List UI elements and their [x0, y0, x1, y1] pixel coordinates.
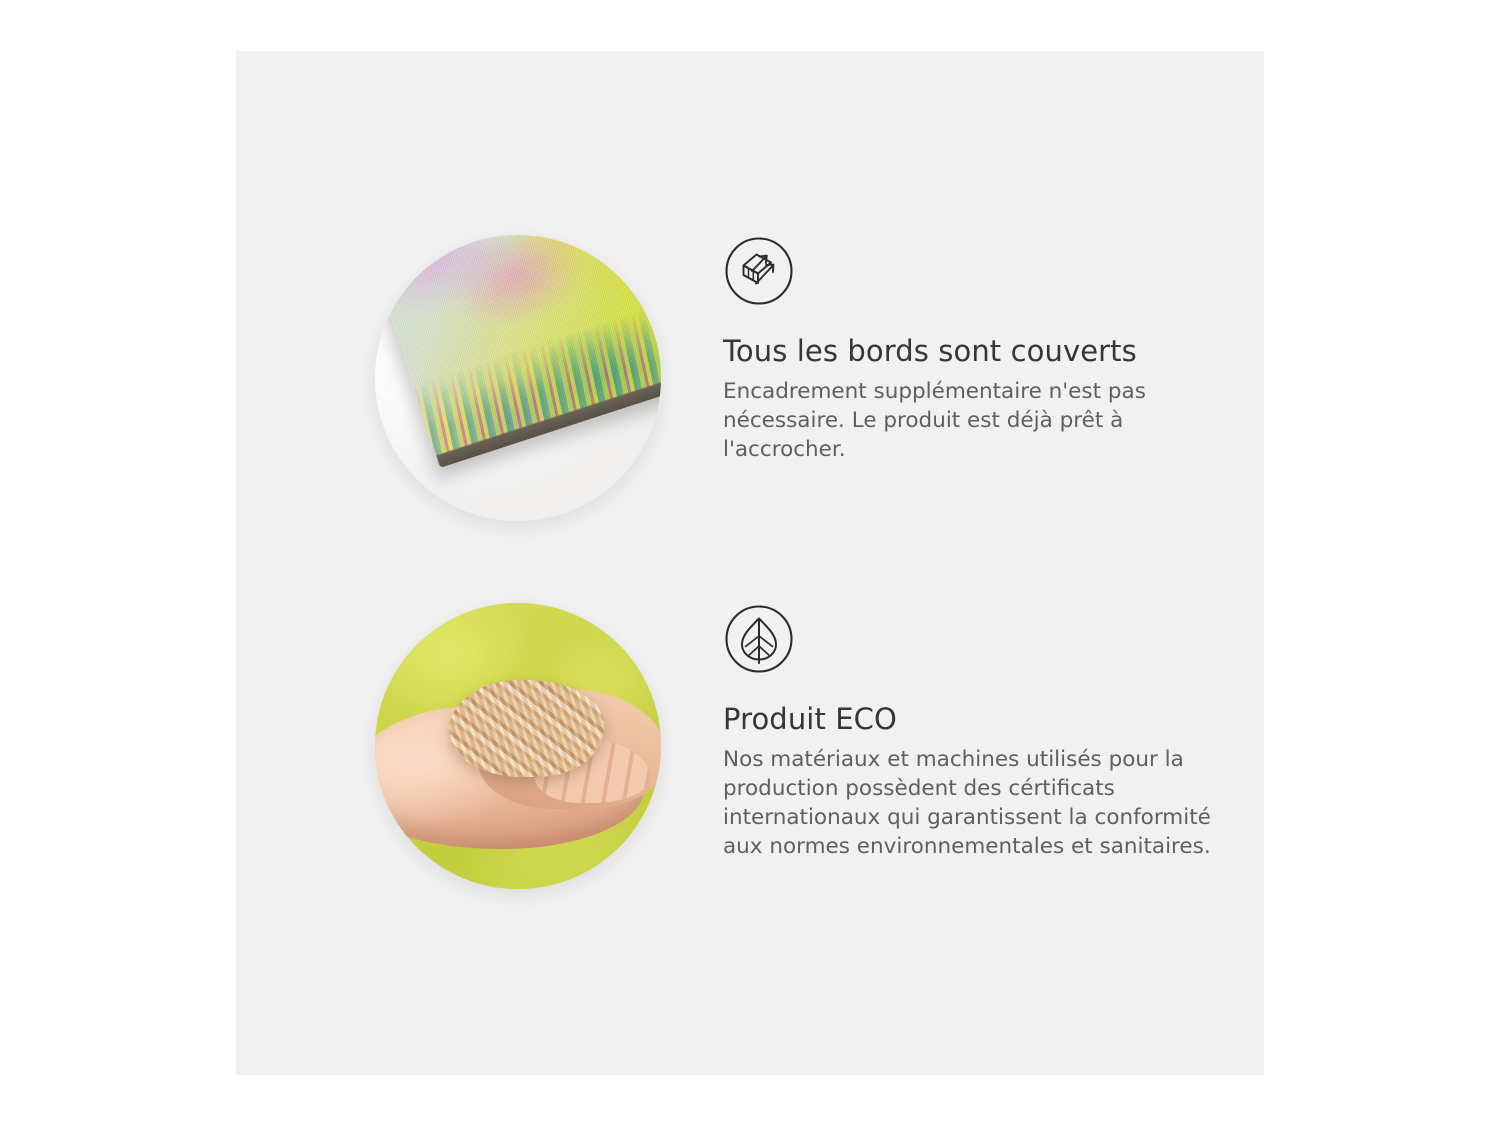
leaf-icon: [723, 603, 795, 675]
content-panel: Tous les bords sont couverts Encadrement…: [236, 51, 1264, 1075]
feature-text-eco-product: Produit ECO Nos matériaux et machines ut…: [723, 603, 1243, 861]
feature-text-covered-edges: Tous les bords sont couverts Encadrement…: [723, 235, 1243, 464]
feature-title: Tous les bords sont couverts: [723, 335, 1243, 368]
feature-title: Produit ECO: [723, 703, 1243, 736]
canvas-corner-photo: [375, 235, 661, 521]
product-feature-page: Tous les bords sont couverts Encadrement…: [0, 0, 1500, 1125]
covered-edges-icon: [723, 235, 795, 307]
feature-description: Nos matériaux et machines utilisés pour …: [723, 745, 1235, 861]
wood-chips-hands-photo: [375, 603, 661, 889]
wood-chips-photo-wrap: [375, 603, 661, 889]
feature-description: Encadrement supplémentaire n'est pas néc…: [723, 377, 1228, 464]
wood-chips: [449, 680, 603, 777]
canvas-corner-photo-wrap: [375, 235, 661, 521]
